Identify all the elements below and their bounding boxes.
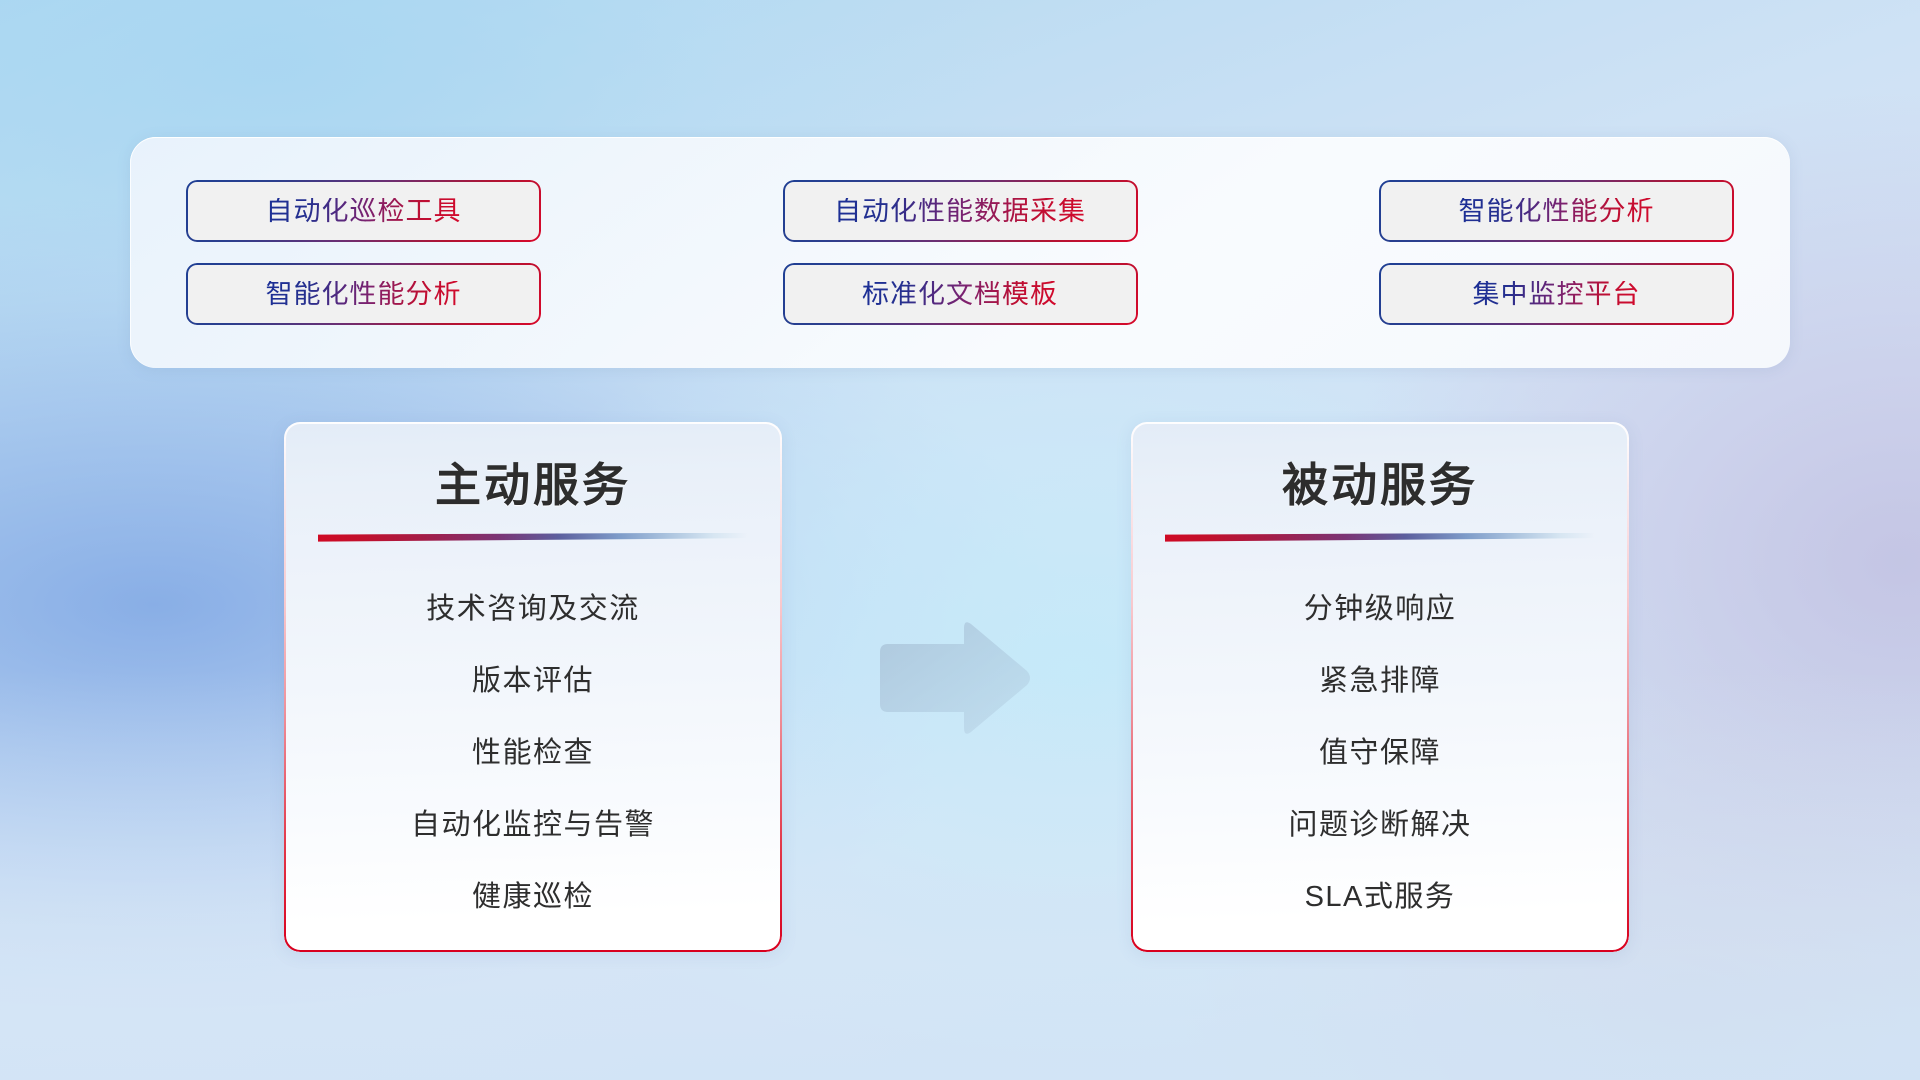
capability-pill-label: 集中监控平台 bbox=[1473, 281, 1641, 308]
capability-column-2: 自动化性能数据采集 标准化文档模板 bbox=[783, 180, 1138, 325]
service-card-proactive: 主动服务 技术咨询及交流 版本评估 性能检查 自动化监控与告警 健康巡检 bbox=[284, 422, 782, 952]
capability-column-1: 自动化巡检工具 智能化性能分析 bbox=[186, 180, 541, 325]
list-item: 值守保障 bbox=[1319, 714, 1441, 786]
service-card-reactive: 被动服务 分钟级响应 紧急排障 值守保障 问题诊断解决 SLA式服务 bbox=[1131, 422, 1629, 952]
list-item: 紧急排障 bbox=[1319, 642, 1441, 714]
card-divider-bar bbox=[1165, 533, 1595, 542]
card-title: 主动服务 bbox=[435, 460, 631, 511]
card-title: 被动服务 bbox=[1282, 460, 1478, 511]
capability-pill-label: 标准化文档模板 bbox=[862, 281, 1058, 308]
right-arrow-icon bbox=[874, 618, 1034, 738]
service-item-list: 分钟级响应 紧急排障 值守保障 问题诊断解决 SLA式服务 bbox=[1131, 570, 1629, 930]
card-divider bbox=[1165, 533, 1595, 542]
capability-pill-automated-inspection-tool[interactable]: 自动化巡检工具 bbox=[186, 180, 541, 242]
slide-canvas: 自动化巡检工具 智能化性能分析 自动化性能数据采集 标准化文档模板 智能化性能分… bbox=[0, 0, 1920, 1080]
list-item: 自动化监控与告警 bbox=[411, 786, 655, 858]
capability-panel: 自动化巡检工具 智能化性能分析 自动化性能数据采集 标准化文档模板 智能化性能分… bbox=[130, 137, 1790, 368]
list-item: 问题诊断解决 bbox=[1288, 786, 1471, 858]
list-item: 版本评估 bbox=[472, 642, 594, 714]
list-item: 性能检查 bbox=[472, 714, 594, 786]
card-divider-bar bbox=[318, 533, 748, 542]
capability-column-3: 智能化性能分析 集中监控平台 bbox=[1379, 180, 1734, 325]
list-item: 分钟级响应 bbox=[1304, 570, 1457, 642]
capability-pill-label: 自动化性能数据采集 bbox=[834, 198, 1086, 225]
service-item-list: 技术咨询及交流 版本评估 性能检查 自动化监控与告警 健康巡检 bbox=[284, 570, 782, 930]
right-arrow-svg bbox=[874, 618, 1034, 738]
capability-pill-intelligent-performance-analysis-right[interactable]: 智能化性能分析 bbox=[1379, 180, 1734, 242]
list-item: 健康巡检 bbox=[472, 858, 594, 930]
list-item: SLA式服务 bbox=[1305, 858, 1456, 930]
capability-pill-label: 自动化巡检工具 bbox=[266, 198, 462, 225]
capability-pill-standardized-document-template[interactable]: 标准化文档模板 bbox=[783, 263, 1138, 325]
capability-pill-intelligent-performance-analysis-left[interactable]: 智能化性能分析 bbox=[186, 263, 541, 325]
capability-pill-label: 智能化性能分析 bbox=[266, 281, 462, 308]
list-item: 技术咨询及交流 bbox=[426, 570, 640, 642]
capability-pill-centralized-monitoring-platform[interactable]: 集中监控平台 bbox=[1379, 263, 1734, 325]
capability-pill-automated-performance-data-collection[interactable]: 自动化性能数据采集 bbox=[783, 180, 1138, 242]
card-divider bbox=[318, 533, 748, 542]
capability-pill-label: 智能化性能分析 bbox=[1459, 198, 1655, 225]
